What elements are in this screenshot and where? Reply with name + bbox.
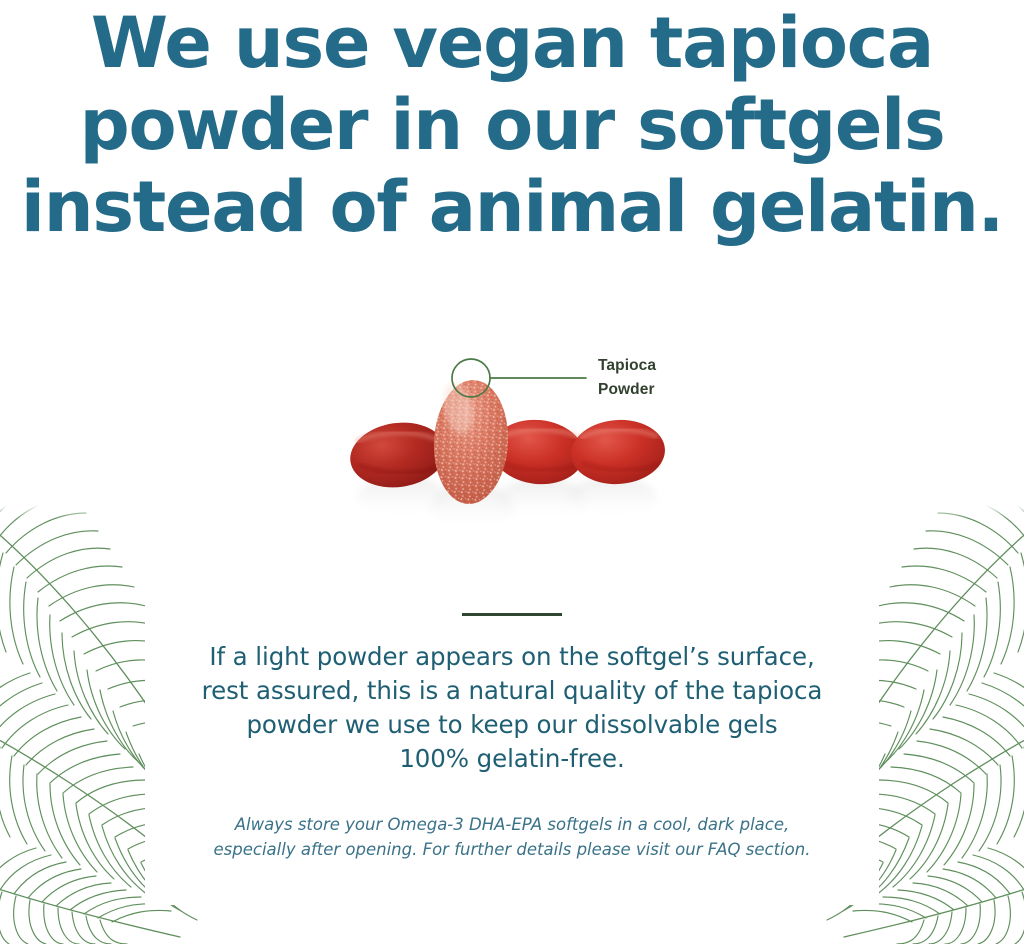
- section-divider: [462, 613, 562, 616]
- headline-line-1: We use vegan tapioca: [0, 2, 1024, 84]
- body-copy-line-4: 100% gelatin-free.: [160, 742, 864, 776]
- body-copy-line-3: powder we use to keep our dissolvable ge…: [160, 708, 864, 742]
- footnote-line-2: especially after opening. For further de…: [150, 837, 874, 862]
- body-copy-line-2: rest assured, this is a natural quality …: [160, 674, 864, 708]
- headline-line-2: powder in our softgels: [0, 84, 1024, 166]
- callout-marker: [440, 348, 610, 418]
- callout-label-line-2: Powder: [598, 381, 655, 398]
- callout-label: Tapioca Powder: [598, 354, 656, 402]
- headline-line-3: instead of animal gelatin.: [0, 166, 1024, 248]
- storage-footnote: Always store your Omega-3 DHA-EPA softge…: [150, 812, 874, 862]
- body-copy: If a light powder appears on the softgel…: [160, 640, 864, 776]
- callout-circle-icon: [452, 359, 490, 397]
- footnote-line-1: Always store your Omega-3 DHA-EPA softge…: [150, 812, 874, 837]
- callout-label-line-1: Tapioca: [598, 357, 656, 374]
- softgel-back-right-outer: [569, 417, 667, 487]
- body-copy-line-1: If a light powder appears on the softgel…: [160, 640, 864, 674]
- page-title: We use vegan tapioca powder in our softg…: [0, 0, 1024, 248]
